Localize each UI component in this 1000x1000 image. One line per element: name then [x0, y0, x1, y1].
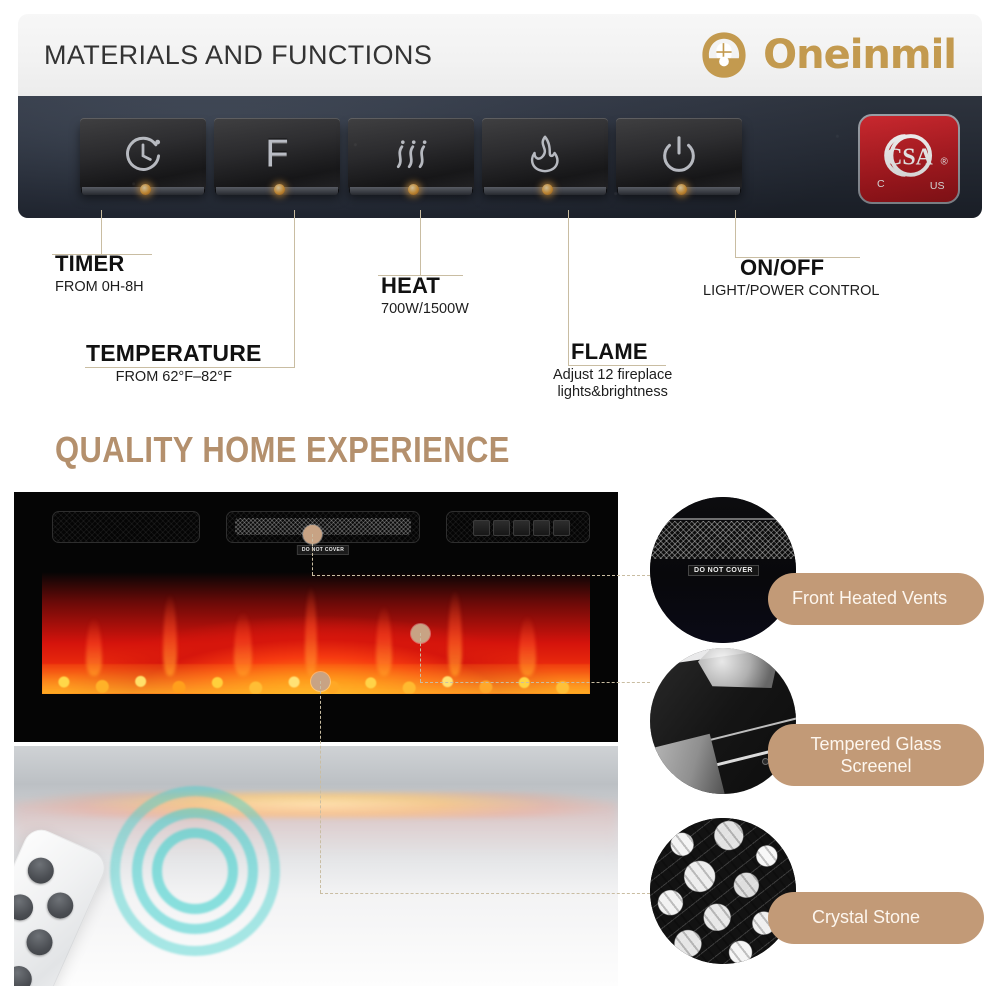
- key-flame[interactable]: [482, 118, 608, 190]
- callout-flame-subtitle-line1: Adjust 12 fireplace: [553, 367, 672, 384]
- callout-onoff-title: ON/OFF: [740, 256, 879, 279]
- brand-name: Oneinmil: [763, 35, 956, 75]
- left-grille-panel: [52, 511, 200, 543]
- dashed-leader-glass-v: [420, 633, 421, 682]
- onboard-button-2[interactable]: [493, 520, 510, 536]
- onboard-button-3[interactable]: [513, 520, 530, 536]
- do-not-cover-zoom-label: DO NOT COVER: [688, 565, 759, 576]
- registered-mark-icon: ®: [941, 156, 948, 167]
- leader-line-temperature: [294, 210, 295, 367]
- page-title: MATERIALS AND FUNCTIONS: [44, 40, 432, 71]
- key-power[interactable]: [616, 118, 742, 190]
- callout-timer-subtitle: FROM 0H-8H: [55, 279, 144, 296]
- feature-pill-glass[interactable]: Tempered Glass Screenel: [768, 724, 984, 786]
- power-icon: [659, 133, 699, 175]
- header-bar: MATERIALS AND FUNCTIONS Oneinmil: [18, 14, 982, 96]
- callout-flame-title: FLAME: [571, 340, 672, 363]
- feature-label-vents: Front Heated Vents: [792, 588, 947, 610]
- signal-wave-inner: [152, 828, 238, 914]
- led-timer: [140, 184, 151, 195]
- led-temperature: [274, 184, 285, 195]
- callout-flame: FLAME Adjust 12 fireplace lights&brightn…: [571, 340, 672, 401]
- fireplace-glow-soft: [14, 804, 618, 858]
- csa-left-mark: C: [877, 178, 885, 190]
- csa-certification-badge: CSA ® C US: [858, 114, 960, 204]
- front-heated-vent-panel: DO NOT COVER: [226, 511, 420, 543]
- remote-button-fahrenheit[interactable]: [43, 888, 77, 922]
- brand-logo: Oneinmil: [697, 28, 956, 82]
- dashed-leader-crystal-h: [320, 893, 650, 894]
- onboard-button-5[interactable]: [553, 520, 570, 536]
- callout-temperature-title: TEMPERATURE: [86, 341, 262, 365]
- flame-lick: [305, 586, 317, 676]
- feature-pill-crystal[interactable]: Crystal Stone: [768, 892, 984, 944]
- dashed-leader-glass-h: [420, 682, 650, 683]
- flame-icon: [525, 133, 565, 175]
- callout-temperature: TEMPERATURE FROM 62°F–82°F: [86, 341, 262, 386]
- callout-heat: HEAT 700W/1500W: [381, 274, 469, 318]
- leader-line-flame: [568, 210, 569, 365]
- leader-line-timer: [101, 210, 102, 254]
- remote-button-flame[interactable]: [22, 925, 56, 959]
- callout-onoff: ON/OFF LIGHT/POWER CONTROL: [740, 256, 879, 300]
- onboard-controls-panel: [446, 511, 590, 543]
- led-flame: [542, 184, 553, 195]
- feature-pill-vents[interactable]: Front Heated Vents: [768, 573, 984, 625]
- feature-label-glass-line2: Screenel: [840, 755, 911, 778]
- fahrenheit-icon: F: [265, 133, 288, 176]
- dashed-leader-vents-v: [312, 534, 313, 575]
- section-heading: QUALITY HOME EXPERIENCE: [55, 429, 510, 471]
- callout-temperature-subtitle: FROM 62°F–82°F: [86, 369, 262, 386]
- led-heat: [408, 184, 419, 195]
- leader-line-onoff: [735, 210, 736, 257]
- callout-heat-subtitle: 700W/1500W: [381, 301, 469, 318]
- led-power: [676, 184, 687, 195]
- vent-mesh-zoom-icon: [650, 521, 796, 559]
- callout-timer: TIMER FROM 0H-8H: [55, 252, 144, 296]
- control-panel-photo: F CS: [18, 96, 982, 218]
- onboard-button-1[interactable]: [473, 520, 490, 536]
- dashed-leader-crystal-v: [320, 681, 321, 893]
- onboard-button-4[interactable]: [533, 520, 550, 536]
- remote-button-timer[interactable]: [14, 927, 16, 961]
- dashed-leader-vents-h: [312, 575, 650, 576]
- feature-circle-vents: DO NOT COVER: [650, 497, 796, 643]
- feature-label-crystal: Crystal Stone: [812, 907, 920, 929]
- remote-button-heat[interactable]: [14, 890, 37, 924]
- leader-line-heat: [420, 210, 421, 275]
- oneinmil-mark-icon: [697, 28, 751, 82]
- key-temperature[interactable]: F: [214, 118, 340, 190]
- callout-heat-title: HEAT: [381, 274, 469, 297]
- do-not-cover-label: DO NOT COVER: [297, 545, 349, 555]
- remote-button-power[interactable]: [24, 853, 58, 887]
- callout-onoff-subtitle: LIGHT/POWER CONTROL: [703, 283, 879, 300]
- callout-timer-title: TIMER: [55, 252, 144, 275]
- csa-logo-icon: CSA ® C US: [865, 120, 953, 198]
- remote-control-scene: [14, 746, 618, 986]
- feature-circle-crystal: [650, 818, 796, 964]
- timer-icon: [121, 132, 165, 176]
- csa-right-mark: US: [930, 180, 945, 192]
- remote-button-mode[interactable]: [14, 962, 36, 986]
- csa-text: CSA: [885, 144, 933, 170]
- callout-flame-subtitle-line2: lights&brightness: [553, 384, 672, 401]
- heat-waves-icon: [387, 134, 435, 174]
- vent-mesh-icon: [235, 518, 411, 535]
- key-timer[interactable]: [80, 118, 206, 190]
- key-heat[interactable]: [348, 118, 474, 190]
- feature-label-glass-line1: Tempered Glass: [810, 733, 941, 756]
